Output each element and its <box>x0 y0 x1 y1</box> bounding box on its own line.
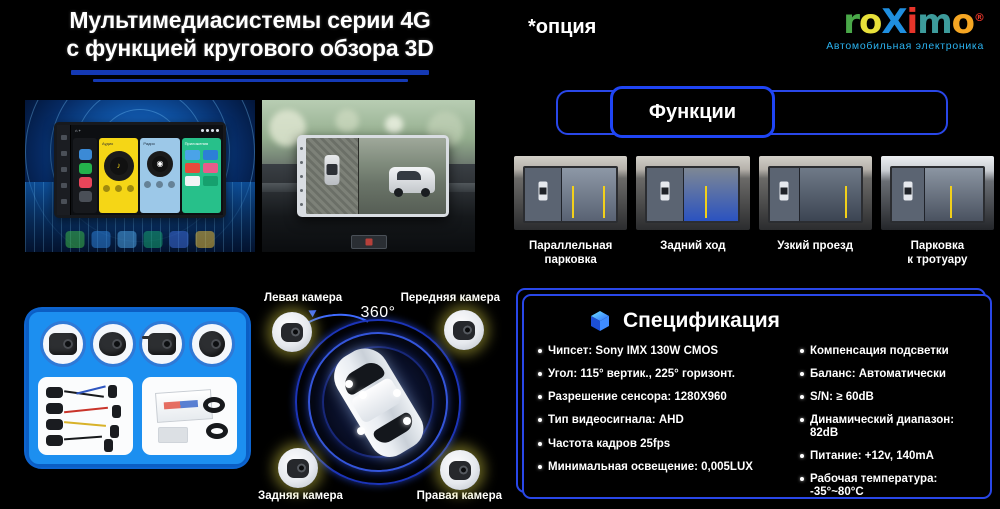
camera-kit-panel <box>25 308 250 468</box>
thumbnail-image <box>636 156 749 230</box>
spec-item: Минимальная освещение: 0,005LUX <box>538 461 790 474</box>
spec-title: Спецификация <box>623 309 780 333</box>
thumb-label-line1: Параллельная <box>514 239 627 253</box>
thumb-label-line1: Узкий проезд <box>759 239 872 253</box>
thumb-label-line1: Задний ход <box>636 239 749 253</box>
bullet-icon <box>800 418 804 422</box>
brand-logo: roXimo® Автомобильная электроника <box>826 5 984 52</box>
spec-item: Угол: 115° вертик., 225° горизонт. <box>538 368 790 381</box>
specification-panel: Спецификация Чипсет: Sony IMX 130W CMOS … <box>522 294 992 499</box>
home-icon: ⌂ + <box>75 128 81 133</box>
screen-tiles: Аудио ♪ Радио ◉ Приложения <box>71 136 223 215</box>
spec-item-text: Угол: 115° вертик., 225° горизонт. <box>548 368 735 381</box>
tile-audio-label: Аудио <box>102 141 135 146</box>
tile-radio-label: Радио <box>143 141 176 146</box>
spec-item: Чипсет: Sony IMX 130W CMOS <box>538 345 790 358</box>
spec-item-text: Компенсация подсветки <box>810 345 949 358</box>
title-line-1: Мультимедиасистемы серии 4G <box>0 6 500 34</box>
spec-item-text: Частота кадров 25fps <box>548 438 670 451</box>
thumb-label: Узкий проезд <box>759 239 872 253</box>
underline-bar-secondary <box>93 79 408 82</box>
page-title: Мультимедиасистемы серии 4G с функцией к… <box>0 6 500 82</box>
thumbnail-image <box>881 156 994 230</box>
thumb-screen <box>768 166 863 222</box>
rotation-arrow-icon <box>308 307 318 317</box>
spec-item-text: Разрешение сенсора: 1280X960 <box>548 391 727 404</box>
wiring-harness-card <box>38 377 133 455</box>
screen-status-bar: ⌂ + <box>71 125 223 136</box>
spec-item-text: Баланс: Автоматически <box>810 368 946 381</box>
live-camera-view <box>359 138 446 214</box>
spec-header: Спецификация <box>524 296 990 333</box>
logo-letter-r: r <box>843 5 859 39</box>
spec-item-text: Тип видеосигнала: AHD <box>548 414 684 427</box>
thumb-label: Задний ход <box>636 239 749 253</box>
camera-node-rear <box>278 448 318 488</box>
thumb-label: Парковка к тротуару <box>881 239 994 268</box>
bullet-icon <box>538 349 542 353</box>
mounting-parts-card <box>142 377 237 455</box>
spec-item-text: Питание: +12v, 140mA <box>810 450 934 463</box>
bullet-icon <box>538 465 542 469</box>
bullet-icon <box>538 372 542 376</box>
bullet-icon <box>538 442 542 446</box>
camera-item <box>40 321 86 367</box>
thumb-narrow-passage[interactable]: Узкий проезд <box>759 156 872 268</box>
radio-controls <box>143 181 176 188</box>
right-column: *опция roXimo® Автомобильная электроника… <box>500 0 1000 508</box>
logo-letter-x: X <box>881 5 906 39</box>
title-underline <box>0 70 500 82</box>
thumb-curb-parking[interactable]: Парковка к тротуару <box>881 156 994 268</box>
camera-node-left <box>272 312 312 352</box>
dashboard-side-buttons <box>299 141 304 211</box>
spec-item: Питание: +12v, 140mA <box>800 450 976 463</box>
app-dock <box>73 138 97 213</box>
label-right-camera: Правая камера <box>417 490 502 502</box>
radio-disc-icon: ◉ <box>147 151 173 177</box>
tile-radio: Радио ◉ <box>140 138 179 213</box>
spec-item: Рабочая температура: -35°~80°C <box>800 473 976 498</box>
spec-column-left: Чипсет: Sony IMX 130W CMOS Угол: 115° ве… <box>538 345 790 509</box>
tile-audio: Аудио ♪ <box>99 138 138 213</box>
thumb-screen <box>890 166 985 222</box>
camera-item <box>189 321 235 367</box>
coverage-angle-label: 360° <box>360 304 395 322</box>
option-note: *опция <box>528 16 596 39</box>
thumb-label-line2: к тротуару <box>881 253 994 267</box>
spec-columns: Чипсет: Sony IMX 130W CMOS Угол: 115° ве… <box>524 333 990 509</box>
camera-node-front <box>444 310 484 350</box>
registered-trademark-icon: ® <box>974 12 984 23</box>
spec-item-text: Рабочая температура: -35°~80°C <box>810 473 976 498</box>
dashboard-head-unit <box>297 135 449 217</box>
device-screen: ⌂ + Аудио ♪ <box>71 125 223 215</box>
bullet-icon <box>800 372 804 376</box>
label-rear-camera: Задняя камера <box>258 490 343 502</box>
logo-letter-o1: o <box>859 5 881 39</box>
spec-item: Компенсация подсветки <box>800 345 976 358</box>
logo-letter-o2: o <box>952 5 974 39</box>
bullet-icon <box>800 454 804 458</box>
tile-apps: Приложения <box>182 138 221 213</box>
camera-item <box>139 321 185 367</box>
underline-bar-primary <box>71 70 429 75</box>
apps-grid <box>185 150 218 186</box>
spec-item: Тип видеосигнала: AHD <box>538 414 790 427</box>
spec-item: Динамический диапазон: 82dB <box>800 414 976 439</box>
thumb-reverse[interactable]: Задний ход <box>636 156 749 268</box>
functions-button[interactable]: Функции <box>610 86 775 138</box>
spec-item-text: Динамический диапазон: 82dB <box>810 414 976 439</box>
spec-item: Разрешение сенсора: 1280X960 <box>538 391 790 404</box>
thumbnail-image <box>759 156 872 230</box>
head-unit-device: ⌂ + Аудио ♪ <box>54 122 226 218</box>
left-column: Мультимедиасистемы серии 4G с функцией к… <box>0 0 500 508</box>
reflection-icons <box>66 231 215 248</box>
spec-item: Частота кадров 25fps <box>538 438 790 451</box>
spec-item: S/N: ≥ 60dB <box>800 391 976 404</box>
spec-item: Баланс: Автоматически <box>800 368 976 381</box>
dashboard-screen <box>306 138 446 214</box>
camera-item <box>90 321 136 367</box>
audio-controls <box>102 185 135 192</box>
diagram-core <box>293 317 463 487</box>
product-photo-dashboard <box>262 100 475 252</box>
label-left-camera: Левая камера <box>264 292 342 304</box>
thumb-screen <box>523 166 618 222</box>
thumb-label-line1: Парковка <box>881 239 994 253</box>
title-line-2: с функцией кругового обзора 3D <box>0 34 500 62</box>
device-side-buttons <box>57 125 71 215</box>
dashboard-vent-badge <box>351 235 387 249</box>
birdseye-view <box>306 138 359 214</box>
bullet-icon <box>800 395 804 399</box>
logo-letter-i: i <box>907 5 918 39</box>
functions-button-label: Функции <box>649 101 736 124</box>
camera-node-right <box>440 450 480 490</box>
product-photo-head-unit: ⌂ + Аудио ♪ <box>25 100 255 252</box>
spec-item-text: S/N: ≥ 60dB <box>810 391 874 404</box>
camera-coverage-diagram: Левая камера Передняя камера Задняя каме… <box>258 292 498 504</box>
bullet-icon <box>800 349 804 353</box>
bullet-icon <box>538 418 542 422</box>
birdseye-car <box>324 155 339 185</box>
status-icons <box>201 129 219 132</box>
logo-wordmark: roXimo® <box>826 5 984 39</box>
poster-root: Мультимедиасистемы серии 4G с функцией к… <box>0 0 1000 508</box>
spec-item-text: Минимальная освещение: 0,005LUX <box>548 461 753 474</box>
thumb-screen <box>645 166 740 222</box>
bullet-icon <box>800 477 804 481</box>
parked-car <box>389 167 435 193</box>
thumb-parallel-parking[interactable]: Параллельная парковка <box>514 156 627 268</box>
thumbnail-image <box>514 156 627 230</box>
thumb-label-line2: парковка <box>514 253 627 267</box>
audio-disc-icon: ♪ <box>104 151 134 181</box>
spec-item-text: Чипсет: Sony IMX 130W CMOS <box>548 345 718 358</box>
bullet-icon <box>538 395 542 399</box>
logo-tagline: Автомобильная электроника <box>826 40 984 52</box>
cube-icon <box>588 309 612 333</box>
thumb-label: Параллельная парковка <box>514 239 627 268</box>
tile-apps-label: Приложения <box>185 141 218 146</box>
logo-letter-m: m <box>917 5 951 39</box>
function-thumbnails: Параллельная парковка Задний ход <box>514 156 994 268</box>
label-front-camera: Передняя камера <box>401 292 500 304</box>
spec-column-right: Компенсация подсветки Баланс: Автоматиче… <box>800 345 976 509</box>
